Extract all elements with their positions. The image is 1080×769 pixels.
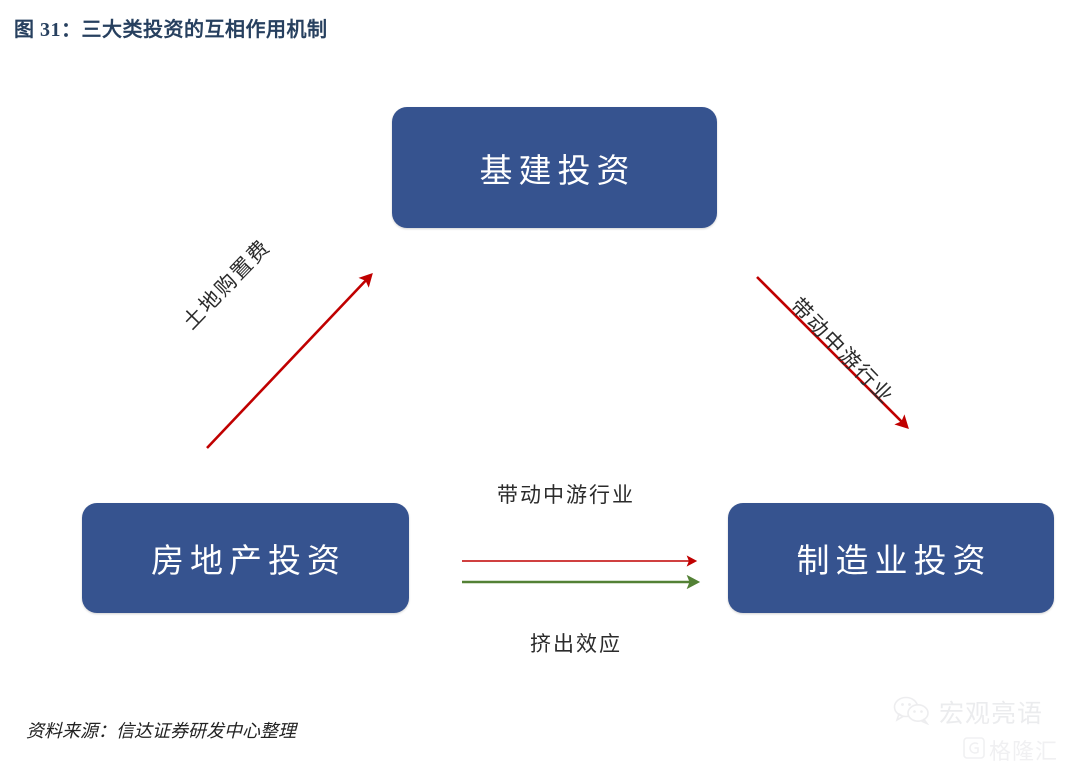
edge-label-crowding-out-effect: 挤出效应 xyxy=(530,628,622,658)
arrow-realestate-to-infrastructure xyxy=(207,276,370,448)
source-note: 资料来源：信达证券研发中心整理 xyxy=(26,717,296,743)
edge-label-land-purchase-fee: 土地购置费 xyxy=(175,232,276,336)
watermark: 宏观亮语 格隆汇 xyxy=(893,694,1073,766)
edge-label-drive-midstream-center: 带动中游行业 xyxy=(497,479,635,509)
node-label: 房地产投资 xyxy=(145,534,346,582)
diagram-canvas: 基建投资 房地产投资 制造业投资 土地购置费 带动中游行业 带动中游行业 挤出效… xyxy=(0,0,1080,769)
node-manufacturing-investment[interactable]: 制造业投资 xyxy=(728,503,1054,613)
edge-label-drive-midstream-right: 带动中游行业 xyxy=(784,291,901,411)
node-real-estate-investment[interactable]: 房地产投资 xyxy=(82,503,409,613)
watermark-brand-name: 格隆汇 xyxy=(989,734,1058,766)
watermark-account-name: 宏观亮语 xyxy=(939,694,1043,730)
gelonghui-logo-icon xyxy=(963,737,985,764)
wechat-icon xyxy=(893,695,933,730)
node-infrastructure-investment[interactable]: 基建投资 xyxy=(392,107,717,228)
watermark-account: 宏观亮语 xyxy=(893,694,1043,730)
node-label: 制造业投资 xyxy=(791,534,992,582)
node-label: 基建投资 xyxy=(474,144,636,192)
watermark-brand: 格隆汇 xyxy=(963,734,1058,766)
